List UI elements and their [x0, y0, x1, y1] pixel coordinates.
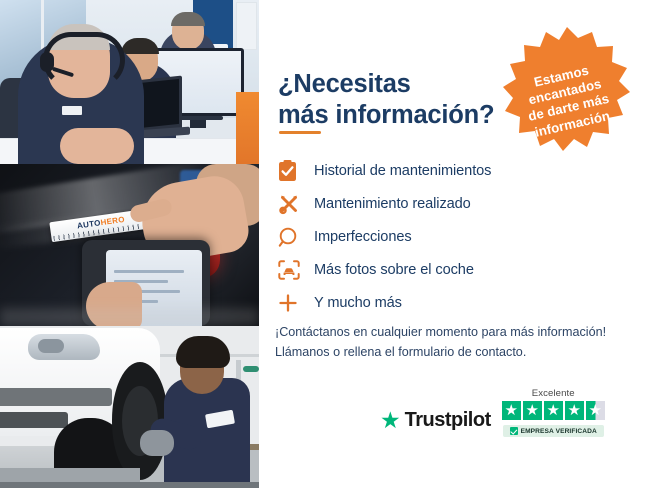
photo-collage: AUTOHERO: [0, 0, 259, 488]
magnifier-glyph-icon: [278, 227, 298, 248]
page-title: ¿Necesitas más información?: [278, 69, 528, 131]
list-item: Más fotos sobre el coche: [275, 254, 595, 286]
clipboard-check-glyph-icon: [278, 160, 297, 182]
paragraph-line-2: Llámanos o rellena el formulario de cont…: [275, 345, 526, 359]
headline-line-1: ¿Necesitas: [278, 70, 411, 98]
list-item-label: Imperfecciones: [314, 229, 412, 245]
trustpilot-star-icon: ★: [380, 411, 401, 430]
plus-icon: [275, 293, 314, 313]
promo-badge: Estamos encantados de darte más informac…: [500, 22, 634, 156]
orange-equipment: [236, 92, 259, 164]
tools-icon: [275, 193, 314, 215]
foreground-blur: [0, 308, 259, 326]
content-panel: ¿Necesitas más información? Estamos enca…: [259, 0, 650, 488]
list-item: Y mucho más: [275, 287, 595, 319]
monitor-stand: [175, 116, 223, 120]
promo-banner: AUTOHERO: [0, 0, 650, 488]
list-item: Mantenimiento realizado: [275, 188, 595, 220]
list-item-label: Y mucho más: [314, 295, 402, 311]
headset-glyph-icon: [500, 48, 517, 63]
car-photo-scan-glyph-icon: [278, 260, 300, 280]
tools-glyph-icon: [278, 193, 300, 215]
check-icon: [510, 427, 518, 435]
trustpilot-logo[interactable]: ★ Trustpilot: [380, 409, 491, 437]
title-divider: [279, 131, 321, 134]
paragraph-line-1: ¡Contáctanos en cualquier momento para m…: [275, 325, 606, 339]
feature-list: Historial de mantenimientos Mantenimient…: [275, 155, 595, 320]
car-headlight-inner: [38, 339, 64, 353]
contact-paragraph: ¡Contáctanos en cualquier momento para m…: [275, 322, 635, 363]
plus-glyph-icon: [278, 293, 298, 313]
star-filled-icon: ★: [523, 401, 542, 420]
trustpilot-widget[interactable]: ★ Trustpilot Excelente ★ ★ ★ ★ ★ EMPRESA…: [380, 388, 628, 437]
trustpilot-stars: ★ ★ ★ ★ ★: [502, 401, 605, 420]
agent-arm: [60, 128, 134, 164]
tablet-text-line: [114, 270, 184, 273]
list-item-label: Más fotos sobre el coche: [314, 262, 474, 278]
trustpilot-rating-label: Excelente: [532, 388, 575, 399]
car-lift-rail: [0, 482, 259, 488]
green-hose: [243, 366, 259, 372]
car-photo-scan-icon: [275, 260, 314, 280]
list-item-label: Historial de mantenimientos: [314, 163, 491, 179]
car-grille-upper: [0, 388, 112, 406]
star-filled-icon: ★: [544, 401, 563, 420]
colleague-mid-hair: [121, 38, 159, 54]
star-glyph-icon: ★: [505, 403, 518, 418]
verified-company-label: EMPRESA VERIFICADA: [521, 428, 597, 435]
photo-inspection-ruler: AUTOHERO: [0, 164, 259, 326]
photo-call-center: [0, 0, 259, 164]
star-half-icon: ★: [586, 401, 605, 420]
magnifier-icon: [275, 227, 314, 248]
agent-name-tag: [62, 106, 82, 115]
star-glyph-icon: ★: [547, 403, 560, 418]
list-item: Imperfecciones: [275, 221, 595, 253]
clipboard-check-icon: [275, 160, 314, 182]
car-grille-lower: [0, 412, 68, 428]
wall-poster-secondary: [236, 2, 257, 50]
trustpilot-rating-block: Excelente ★ ★ ★ ★ ★ EMPRESA VERIFICADA: [502, 388, 605, 437]
star-glyph-icon: ★: [589, 403, 602, 418]
list-item-label: Mantenimiento realizado: [314, 196, 471, 212]
list-item: Historial de mantenimientos: [275, 155, 595, 187]
star-glyph-icon: ★: [526, 403, 539, 418]
trustpilot-brand-label: Trustpilot: [405, 409, 491, 432]
verified-company-badge: EMPRESA VERIFICADA: [503, 425, 604, 437]
photo-mechanic-wheel: [0, 326, 259, 488]
mechanic-hair: [176, 336, 230, 368]
star-glyph-icon: ★: [568, 403, 581, 418]
mechanic-glove: [140, 430, 174, 456]
headline-line-2: más información?: [278, 101, 494, 129]
star-filled-icon: ★: [565, 401, 584, 420]
agent-headset-band: [43, 32, 125, 88]
star-filled-icon: ★: [502, 401, 521, 420]
